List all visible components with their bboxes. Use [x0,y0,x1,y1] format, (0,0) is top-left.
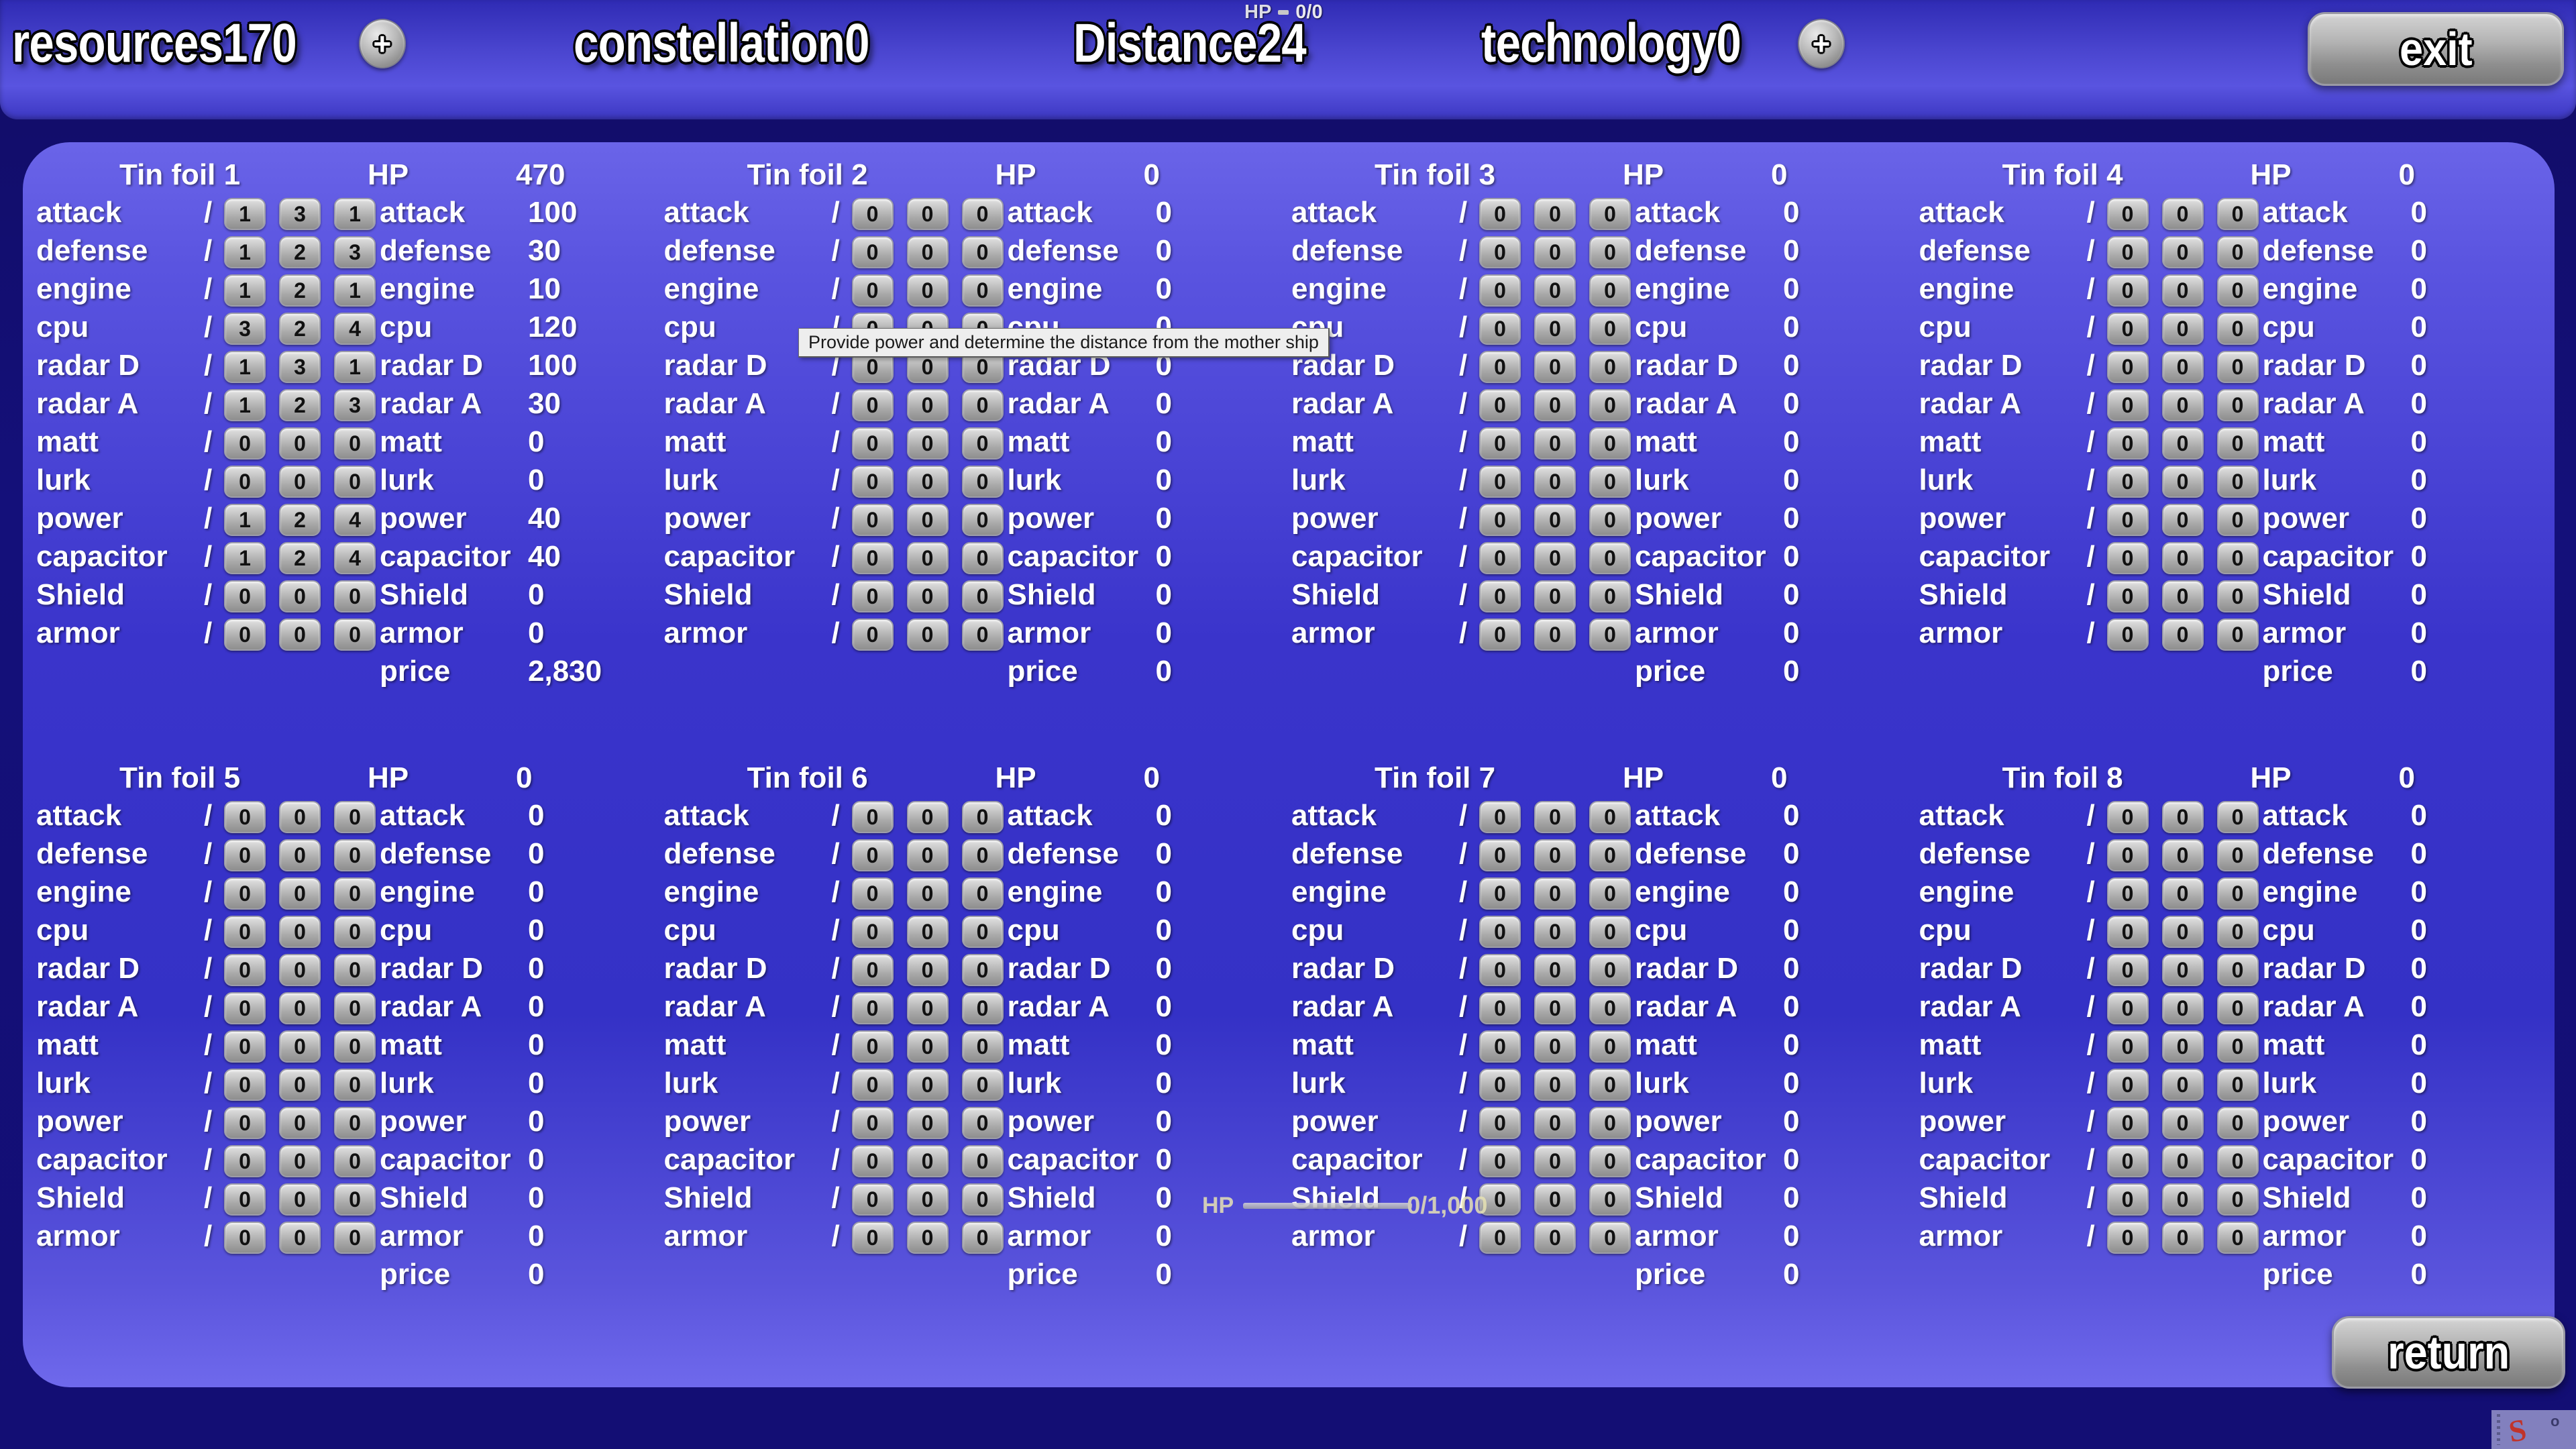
stat-level-button[interactable]: 0 [1479,1222,1521,1254]
stat-level-button[interactable]: 0 [1534,504,1576,536]
stat-level-button[interactable]: 0 [852,1069,894,1101]
stat-level-button[interactable]: 0 [1479,542,1521,574]
stat-level-button[interactable]: 0 [334,992,376,1024]
stat-level-button[interactable]: 0 [2217,801,2259,833]
stat-level-button[interactable]: 0 [907,1030,949,1063]
stat-level-button[interactable]: 0 [1589,992,1631,1024]
stat-level-button[interactable]: 0 [852,466,894,498]
stat-level-button[interactable]: 0 [962,389,1004,421]
stat-level-button[interactable]: 0 [2217,954,2259,986]
stat-level-button[interactable]: 0 [852,1030,894,1063]
stat-level-button[interactable]: 2 [279,313,321,345]
stat-level-button[interactable]: 0 [1534,389,1576,421]
stat-level-button[interactable]: 0 [224,466,266,498]
stat-level-button[interactable]: 0 [1589,274,1631,307]
stat-level-button[interactable]: 0 [907,389,949,421]
stat-level-button[interactable]: 0 [907,954,949,986]
stat-level-button[interactable]: 3 [334,236,376,268]
stat-level-button[interactable]: 0 [2217,1107,2259,1139]
stat-level-button[interactable]: 0 [2217,1222,2259,1254]
stat-level-button[interactable]: 0 [279,1069,321,1101]
stat-level-button[interactable]: 0 [2107,313,2149,345]
stat-level-button[interactable]: 0 [1589,801,1631,833]
stat-level-button[interactable]: 0 [1589,1107,1631,1139]
stat-level-button[interactable]: 0 [279,580,321,612]
stat-level-button[interactable]: 0 [1479,954,1521,986]
stat-level-button[interactable]: 0 [2162,916,2204,948]
stat-level-button[interactable]: 0 [2107,1107,2149,1139]
stat-level-button[interactable]: 0 [279,1222,321,1254]
stat-level-button[interactable]: 0 [852,801,894,833]
stat-level-button[interactable]: 0 [907,1222,949,1254]
stat-level-button[interactable]: 0 [907,580,949,612]
stat-level-button[interactable]: 0 [2217,992,2259,1024]
stat-level-button[interactable]: 1 [334,274,376,307]
stat-level-button[interactable]: 0 [1479,580,1521,612]
stat-level-button[interactable]: 0 [1479,619,1521,651]
stat-level-button[interactable]: 0 [2162,504,2204,536]
stat-level-button[interactable]: 0 [852,542,894,574]
stat-row: power/124power40 [34,502,661,540]
stat-level-button[interactable]: 0 [962,466,1004,498]
stat-level-button[interactable]: 1 [224,274,266,307]
stat-level-button[interactable]: 0 [279,839,321,871]
stat-level-button[interactable]: 0 [1479,1069,1521,1101]
ship-hp-label: HP [996,158,1036,191]
stat-level-button[interactable]: 0 [907,619,949,651]
stat-level-button[interactable]: 0 [907,466,949,498]
stat-level-button[interactable]: 0 [1589,916,1631,948]
plus-icon-resources[interactable]: + [359,19,406,68]
stat-level-button[interactable]: 0 [852,954,894,986]
stat-level-button[interactable]: 0 [2217,542,2259,574]
return-button[interactable]: return [2332,1316,2565,1389]
stat-level-button[interactable]: 0 [2162,839,2204,871]
stat-level-button[interactable]: 0 [1534,1145,1576,1177]
stat-level-button[interactable]: 0 [334,580,376,612]
stat-level-button[interactable]: 4 [334,313,376,345]
stat-level-button[interactable]: 0 [2162,236,2204,268]
stat-level-button[interactable]: 0 [1479,1107,1521,1139]
stat-level-button[interactable]: 1 [224,504,266,536]
stat-level-button[interactable]: 0 [1534,1183,1576,1216]
price-label: price [380,655,450,688]
stat-level-button[interactable]: 0 [2217,198,2259,230]
stat-level-button[interactable]: 1 [224,351,266,383]
stat-level-button[interactable]: 0 [962,619,1004,651]
stat-level-button[interactable]: 0 [2217,236,2259,268]
stat-level-button[interactable]: 0 [962,542,1004,574]
stat-level-button[interactable]: 2 [279,236,321,268]
stat-level-button[interactable]: 0 [279,1183,321,1216]
stat-level-button[interactable]: 0 [1479,389,1521,421]
stat-level-button[interactable]: 0 [334,839,376,871]
stat-level-button[interactable]: 1 [224,542,266,574]
stat-level-button[interactable]: 0 [1534,1069,1576,1101]
stat-level-button[interactable]: 0 [2162,1030,2204,1063]
stat-level-button[interactable]: 0 [2107,504,2149,536]
stat-level-button[interactable]: 0 [2217,351,2259,383]
stat-level-button[interactable]: 0 [852,1222,894,1254]
stat-level-button[interactable]: 0 [852,916,894,948]
stat-level-button[interactable]: 0 [1479,466,1521,498]
stat-level-button[interactable]: 0 [2107,466,2149,498]
stat-level-button[interactable]: 0 [1479,198,1521,230]
stat-level-button[interactable]: 0 [1479,877,1521,910]
stat-level-button[interactable]: 0 [224,619,266,651]
stat-level-button[interactable]: 0 [224,1145,266,1177]
stat-level-button[interactable]: 0 [1479,504,1521,536]
stat-level-button[interactable]: 0 [1589,877,1631,910]
stat-level-button[interactable]: 0 [2162,1107,2204,1139]
stat-level-button[interactable]: 0 [1589,839,1631,871]
stat-level-button[interactable]: 0 [1479,839,1521,871]
stat-level-button[interactable]: 0 [1479,274,1521,307]
stat-level-button[interactable]: 0 [334,1030,376,1063]
stat-level-button[interactable]: 0 [2162,427,2204,460]
stat-level-button[interactable]: 0 [962,1069,1004,1101]
stat-level-button[interactable]: 2 [279,504,321,536]
stat-level-button[interactable]: 0 [2107,198,2149,230]
stat-level-button[interactable]: 0 [852,198,894,230]
stat-level-button[interactable]: 0 [1589,1183,1631,1216]
stat-level-button[interactable]: 0 [1589,542,1631,574]
stat-level-button[interactable]: 0 [907,801,949,833]
stat-level-button[interactable]: 0 [334,1107,376,1139]
stat-level-button[interactable]: 0 [2107,236,2149,268]
stat-level-button[interactable]: 0 [224,1030,266,1063]
stat-row-value: 100 [528,349,577,382]
stat-level-button[interactable]: 0 [1589,954,1631,986]
stat-level-button[interactable]: 0 [279,877,321,910]
stat-level-button[interactable]: 3 [224,313,266,345]
stat-level-button[interactable]: 0 [2162,274,2204,307]
stat-level-button[interactable]: 0 [962,1107,1004,1139]
stat-row-separator: / [832,1067,840,1100]
stat-level-button[interactable]: 0 [2107,839,2149,871]
stat-level-button[interactable]: 0 [2162,351,2204,383]
stat-level-button[interactable]: 0 [962,427,1004,460]
stat-level-button[interactable]: 0 [1589,1145,1631,1177]
stat-level-button[interactable]: 0 [334,1183,376,1216]
stat-level-button[interactable]: 0 [2217,877,2259,910]
stat-level-button[interactable]: 0 [2162,466,2204,498]
stat-level-button[interactable]: 0 [1589,504,1631,536]
stat-level-button[interactable]: 0 [224,1107,266,1139]
stat-level-button[interactable]: 0 [224,1222,266,1254]
stat-level-button[interactable]: 0 [907,916,949,948]
stat-level-button[interactable]: 0 [224,954,266,986]
stat-level-button[interactable]: 0 [2217,504,2259,536]
stat-level-button[interactable]: 0 [852,236,894,268]
stat-level-button[interactable]: 3 [334,389,376,421]
stat-level-button[interactable]: 0 [279,1107,321,1139]
stat-level-button[interactable]: 0 [962,1222,1004,1254]
stat-level-button[interactable]: 0 [2107,580,2149,612]
stat-level-button[interactable]: 0 [2162,992,2204,1024]
stat-level-button[interactable]: 0 [852,389,894,421]
stat-level-button[interactable]: 0 [2107,389,2149,421]
stat-level-button[interactable]: 0 [334,877,376,910]
stat-level-button[interactable]: 4 [334,504,376,536]
stat-level-button[interactable]: 4 [334,542,376,574]
stat-level-button[interactable]: 0 [224,580,266,612]
stat-level-button[interactable]: 0 [2162,1069,2204,1101]
stat-level-button[interactable]: 0 [1589,351,1631,383]
stat-level-button[interactable]: 0 [962,504,1004,536]
stat-level-button[interactable]: 0 [1534,542,1576,574]
stat-level-button[interactable]: 0 [962,877,1004,910]
stat-level-button[interactable]: 0 [1534,619,1576,651]
stat-level-button[interactable]: 0 [907,1183,949,1216]
stat-level-button[interactable]: 0 [1534,1107,1576,1139]
stat-level-button[interactable]: 0 [1589,580,1631,612]
stat-level-button[interactable]: 0 [224,916,266,948]
stat-level-button[interactable]: 0 [279,1145,321,1177]
stat-level-button[interactable]: 0 [334,1145,376,1177]
stat-level-button[interactable]: 0 [279,1030,321,1063]
stat-level-button[interactable]: 0 [1589,313,1631,345]
stat-level-button[interactable]: 0 [2162,619,2204,651]
stat-level-button[interactable]: 0 [1479,1145,1521,1177]
stat-level-button[interactable]: 0 [1589,1030,1631,1063]
stat-level-button[interactable]: 0 [334,801,376,833]
stat-level-button[interactable]: 0 [1534,1030,1576,1063]
stat-level-button[interactable]: 0 [2107,954,2149,986]
stat-level-button[interactable]: 2 [279,274,321,307]
stat-level-button[interactable]: 0 [1534,236,1576,268]
stat-level-button[interactable]: 0 [962,1183,1004,1216]
watermark: S o [2491,1410,2576,1449]
stat-level-button[interactable]: 0 [1589,619,1631,651]
stat-level-button[interactable]: 0 [2107,542,2149,574]
stat-level-button[interactable]: 0 [907,839,949,871]
stat-level-button[interactable]: 0 [1589,1222,1631,1254]
stat-level-button[interactable]: 0 [2217,1145,2259,1177]
stat-level-button[interactable]: 0 [224,992,266,1024]
stat-level-button[interactable]: 0 [2162,313,2204,345]
stat-level-button[interactable]: 1 [334,351,376,383]
stat-level-button[interactable]: 0 [852,619,894,651]
stat-level-button[interactable]: 0 [1589,198,1631,230]
stat-level-button[interactable]: 0 [852,839,894,871]
stat-level-button[interactable]: 0 [1534,801,1576,833]
stat-row-value: 0 [1783,875,1799,909]
stat-level-button[interactable]: 0 [334,466,376,498]
stat-level-button[interactable]: 0 [907,236,949,268]
stat-level-button[interactable]: 0 [907,877,949,910]
stat-level-button[interactable]: 0 [224,1183,266,1216]
stat-level-button[interactable]: 0 [334,427,376,460]
stat-level-button[interactable]: 0 [1534,1222,1576,1254]
stat-level-button[interactable]: 0 [852,274,894,307]
stat-level-button[interactable]: 0 [2107,274,2149,307]
stat-level-button[interactable]: 0 [224,1069,266,1101]
stat-level-button[interactable]: 0 [2162,954,2204,986]
stat-level-button[interactable]: 0 [2107,1222,2149,1254]
stat-level-button[interactable]: 0 [224,801,266,833]
stat-level-button[interactable]: 0 [2217,619,2259,651]
stat-level-button[interactable]: 0 [334,619,376,651]
ship-stat-rows: attack/000attack0defense/000defense0engi… [1289,196,1917,693]
stat-level-button[interactable]: 0 [334,916,376,948]
stat-level-button[interactable]: 0 [1479,916,1521,948]
stat-level-button[interactable]: 2 [279,542,321,574]
stat-level-button[interactable]: 0 [279,427,321,460]
stat-level-button[interactable]: 0 [907,427,949,460]
stat-level-button[interactable]: 0 [2107,619,2149,651]
stat-level-button[interactable]: 0 [2162,1145,2204,1177]
stat-level-button[interactable]: 0 [2162,389,2204,421]
stat-level-button[interactable]: 0 [907,274,949,307]
stat-level-button[interactable]: 0 [2162,877,2204,910]
stat-level-button[interactable]: 0 [852,1145,894,1177]
stat-level-button[interactable]: 0 [279,466,321,498]
stat-level-button[interactable]: 0 [1589,466,1631,498]
stat-level-button[interactable]: 0 [2107,1183,2149,1216]
stat-level-button[interactable]: 0 [907,504,949,536]
stat-row-value: 0 [2411,311,2427,344]
stat-level-button[interactable]: 0 [2107,801,2149,833]
stat-level-button[interactable]: 0 [1534,466,1576,498]
stat-level-button[interactable]: 0 [1589,389,1631,421]
stat-level-button[interactable]: 0 [1479,801,1521,833]
stat-level-button[interactable]: 0 [907,198,949,230]
stat-level-button[interactable]: 0 [1479,236,1521,268]
stat-row-name-right: defense [2263,837,2374,871]
stat-level-button[interactable]: 0 [2107,1069,2149,1101]
stat-level-button[interactable]: 0 [907,1145,949,1177]
stat-level-button[interactable]: 3 [279,198,321,230]
stat-level-button[interactable]: 0 [1534,992,1576,1024]
stat-level-button[interactable]: 0 [2217,1183,2259,1216]
stat-level-button[interactable]: 0 [1534,839,1576,871]
stat-level-button[interactable]: 0 [279,619,321,651]
stat-level-button[interactable]: 0 [279,992,321,1024]
stat-level-button[interactable]: 0 [334,1222,376,1254]
stat-level-button[interactable]: 0 [907,542,949,574]
stat-level-button[interactable]: 0 [962,801,1004,833]
stat-level-button[interactable]: 0 [2217,1069,2259,1101]
stat-level-button[interactable]: 0 [962,198,1004,230]
stat-level-button[interactable]: 0 [1589,1069,1631,1101]
stat-level-button[interactable]: 0 [852,427,894,460]
stat-level-button[interactable]: 1 [224,236,266,268]
stat-level-button[interactable]: 0 [2107,992,2149,1024]
stat-level-button[interactable]: 0 [279,801,321,833]
stat-level-button[interactable]: 0 [1479,427,1521,460]
stat-level-button[interactable]: 1 [224,198,266,230]
stat-level-button[interactable]: 0 [1589,427,1631,460]
stat-level-button[interactable]: 0 [2107,427,2149,460]
stat-level-button[interactable]: 0 [2217,427,2259,460]
stat-level-button[interactable]: 0 [2162,801,2204,833]
stat-level-button[interactable]: 0 [907,1069,949,1101]
stat-level-button[interactable]: 1 [224,389,266,421]
stat-level-button[interactable]: 0 [852,877,894,910]
stat-level-button[interactable]: 0 [962,580,1004,612]
stat-level-button[interactable]: 0 [852,1183,894,1216]
stat-level-button[interactable]: 0 [279,954,321,986]
stat-level-button[interactable]: 0 [2107,1145,2149,1177]
stat-level-button[interactable]: 0 [962,916,1004,948]
stat-level-button[interactable]: 0 [1534,954,1576,986]
stat-level-button[interactable]: 0 [2217,466,2259,498]
stat-level-button[interactable]: 2 [279,389,321,421]
stat-level-button[interactable]: 0 [224,839,266,871]
stat-level-button[interactable]: 0 [907,1107,949,1139]
plus-icon-technology[interactable]: + [1798,19,1845,68]
stat-level-button[interactable]: 0 [1534,427,1576,460]
stat-level-button[interactable]: 0 [2107,1030,2149,1063]
stat-level-button[interactable]: 0 [1479,992,1521,1024]
stat-level-button[interactable]: 0 [962,954,1004,986]
stat-level-button[interactable]: 0 [852,580,894,612]
stat-level-button[interactable]: 0 [334,954,376,986]
stat-level-button[interactable]: 0 [1534,580,1576,612]
stat-level-button[interactable]: 0 [2217,274,2259,307]
hp-mini-bar [1278,10,1289,15]
stat-level-button[interactable]: 0 [2162,1183,2204,1216]
stat-level-button[interactable]: 0 [2217,313,2259,345]
stat-level-button[interactable]: 0 [2162,580,2204,612]
stat-level-button[interactable]: 0 [2217,839,2259,871]
stat-level-button[interactable]: 0 [2217,1030,2259,1063]
stat-level-button[interactable]: 0 [907,992,949,1024]
stat-level-button[interactable]: 0 [2162,1222,2204,1254]
stat-level-button[interactable]: 0 [1534,351,1576,383]
stat-level-button[interactable]: 0 [1479,313,1521,345]
stat-level-button[interactable]: 0 [1534,198,1576,230]
stat-level-button[interactable]: 0 [962,274,1004,307]
stat-level-button[interactable]: 0 [224,427,266,460]
stat-level-button[interactable]: 0 [2107,351,2149,383]
stat-level-button[interactable]: 0 [962,1030,1004,1063]
stat-level-button[interactable]: 0 [1479,1030,1521,1063]
stat-level-button[interactable]: 0 [334,1069,376,1101]
stat-level-button[interactable]: 0 [962,236,1004,268]
stat-row-name-right: armor [1635,616,1719,650]
stat-level-button[interactable]: 0 [1479,351,1521,383]
stat-level-button[interactable]: 0 [2217,389,2259,421]
stat-row-value: 0 [1156,1028,1172,1062]
stat-constellation: constellation0 [574,12,934,75]
stat-level-button[interactable]: 0 [2107,916,2149,948]
stat-level-button[interactable]: 0 [1534,877,1576,910]
stat-level-button[interactable]: 0 [1589,236,1631,268]
stat-level-button[interactable]: 0 [962,1145,1004,1177]
exit-button[interactable]: exit [2308,12,2564,86]
stat-level-button[interactable]: 0 [2162,542,2204,574]
stat-level-button[interactable]: 1 [334,198,376,230]
stat-level-button[interactable]: 0 [1534,916,1576,948]
stat-level-button[interactable]: 0 [852,992,894,1024]
stat-level-button[interactable]: 0 [852,1107,894,1139]
stat-row-name-right: capacitor [380,540,511,574]
stat-level-button[interactable]: 0 [2217,916,2259,948]
stat-level-button[interactable]: 0 [962,992,1004,1024]
stat-level-button[interactable]: 3 [279,351,321,383]
stat-level-button[interactable]: 0 [1534,313,1576,345]
stat-level-button[interactable]: 0 [2162,198,2204,230]
stat-level-button[interactable]: 0 [2217,580,2259,612]
stat-level-button[interactable]: 0 [1534,274,1576,307]
stat-level-button[interactable]: 0 [279,916,321,948]
stat-level-button[interactable]: 0 [852,504,894,536]
stat-level-button[interactable]: 0 [2107,877,2149,910]
stat-level-button[interactable]: 0 [962,839,1004,871]
stat-level-button[interactable]: 0 [224,877,266,910]
